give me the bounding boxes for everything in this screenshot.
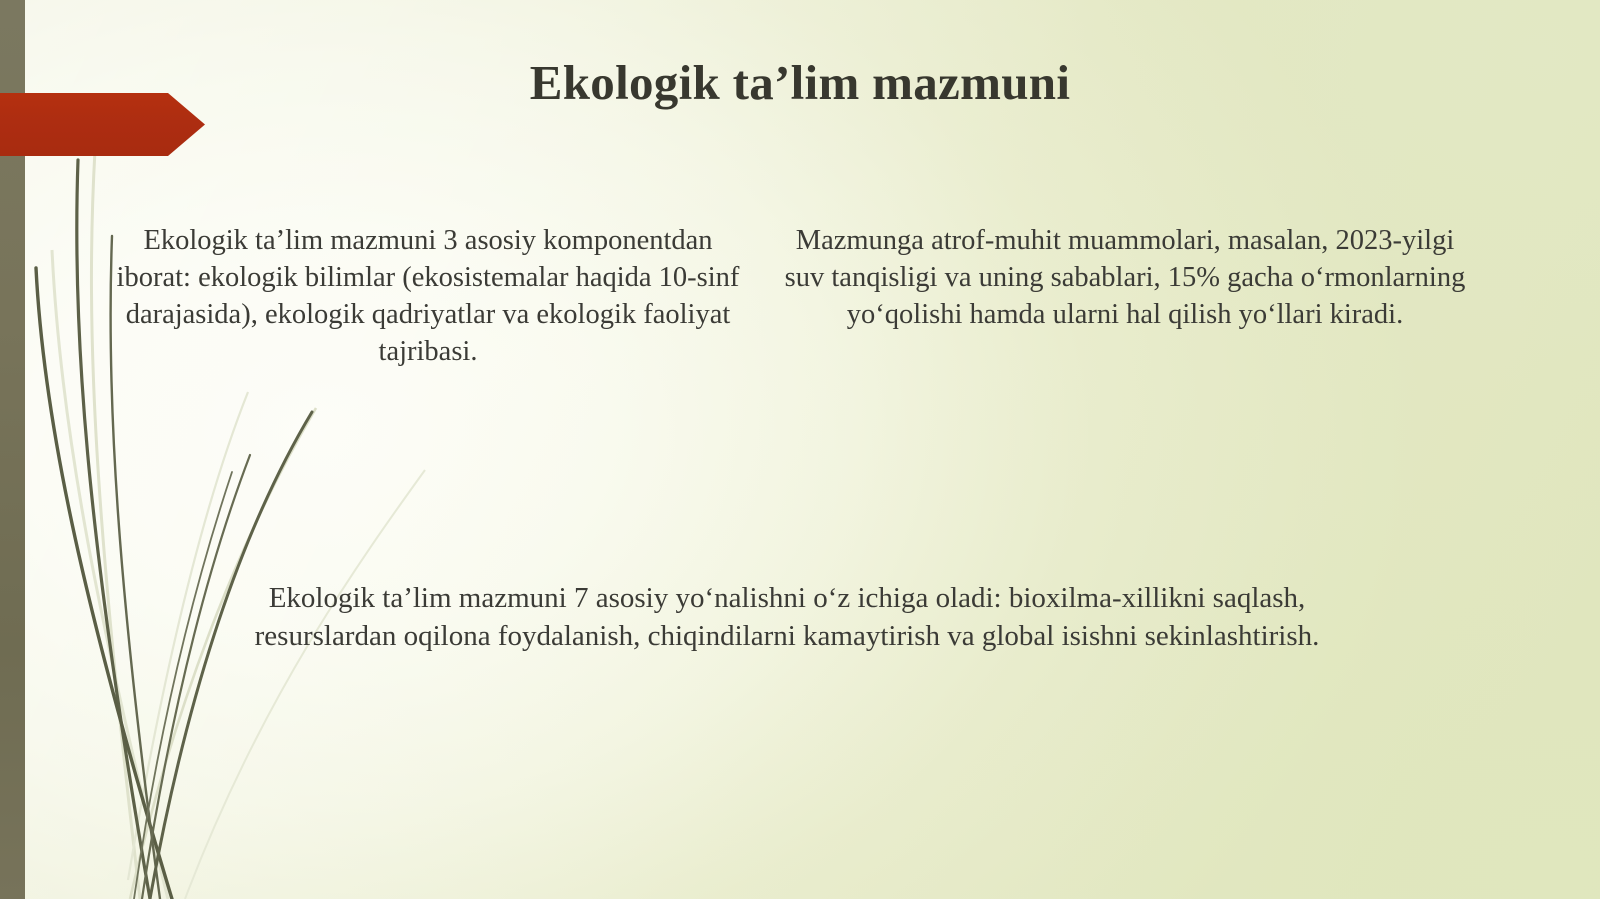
text-block-bottom: Ekologik ta’lim mazmuni 7 asosiy yoʻnali… <box>252 580 1322 655</box>
page-title: Ekologik ta’lim mazmuni <box>0 55 1600 111</box>
background-corner-glow <box>0 0 1600 899</box>
text-block-left: Ekologik ta’lim mazmuni 3 asosiy kompone… <box>108 222 748 370</box>
slide-canvas: Ekologik ta’lim mazmuni Ekologik ta’lim … <box>0 0 1600 899</box>
text-block-right: Mazmunga atrof-muhit muammolari, masalan… <box>775 222 1475 333</box>
